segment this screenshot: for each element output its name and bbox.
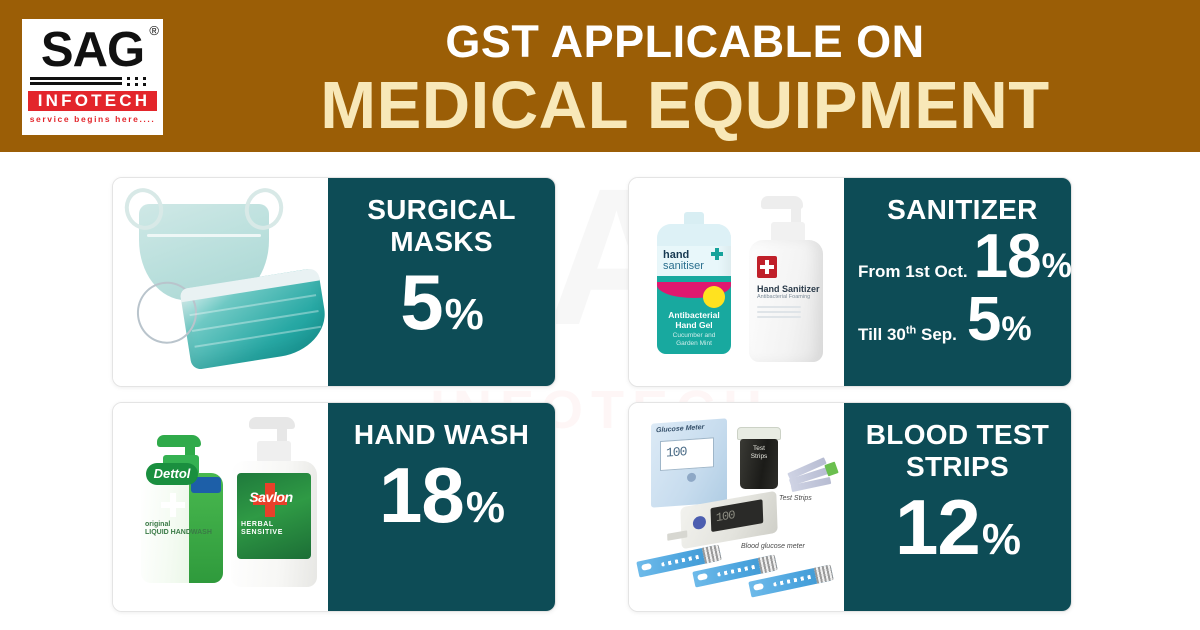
- logo-tagline: service begins here....: [28, 114, 157, 124]
- savlon-description: HERBAL SENSITIVE: [241, 521, 283, 537]
- medical-cross-badge-icon: [757, 256, 777, 278]
- rate-number: 5: [967, 287, 1000, 353]
- sanitizer-rate-from-oct: From 1st Oct. 18 %: [858, 224, 1071, 299]
- percent-symbol: %: [1042, 233, 1071, 299]
- rate-number: 18: [379, 455, 464, 535]
- caption-test-strips: Test Strips: [779, 495, 812, 502]
- percent-symbol: %: [445, 275, 483, 355]
- glucose-meter-box-title: Glucose Meter: [656, 424, 704, 434]
- hand-sanitiser-gel-bottle-icon: hand sanitiser Antibacterial Hand Gel Cu…: [657, 224, 731, 354]
- product-image-hand-wash: Dettol original LIQUID HANDWASH Savlon H…: [113, 403, 328, 611]
- sanitizer-rate-rows: From 1st Oct. 18 % Till 30th Sep. 5 %: [844, 224, 1072, 362]
- card-hand-wash: Dettol original LIQUID HANDWASH Savlon H…: [112, 402, 556, 612]
- product-image-surgical-masks: [113, 178, 328, 386]
- glucose-meter-box-icon: Glucose Meter 100: [651, 418, 727, 507]
- bottle-brand-line2: sanitiser: [663, 261, 704, 272]
- product-image-sanitizer: hand sanitiser Antibacterial Hand Gel Cu…: [629, 178, 844, 386]
- rate-period-label: Till 30th Sep.: [858, 325, 957, 351]
- card-surgical-masks: SURGICAL MASKS 5 %: [112, 177, 556, 387]
- page-title-line2: MEDICAL EQUIPMENT: [180, 68, 1190, 144]
- card-sanitizer: hand sanitiser Antibacterial Hand Gel Cu…: [628, 177, 1072, 387]
- test-strips-jar-icon: Test Strips: [737, 427, 781, 491]
- glucose-box-reading: 100: [666, 444, 686, 460]
- card-title-blood-test-strips: BLOOD TEST STRIPS: [844, 419, 1071, 483]
- card-blood-test-strips: Glucose Meter 100 Test Strips Test Strip…: [628, 402, 1072, 612]
- rate-period-label: From 1st Oct.: [858, 262, 968, 288]
- logo-bar-top: [30, 77, 122, 80]
- glucose-meter-reading: 100: [716, 508, 735, 525]
- rate-number: 18: [974, 224, 1041, 290]
- rate-value-surgical-masks: 5 %: [400, 262, 483, 355]
- card-title-surgical-masks: SURGICAL MASKS: [328, 194, 555, 258]
- jar-label: Test Strips: [737, 445, 781, 461]
- rate-panel-surgical-masks: SURGICAL MASKS 5 %: [328, 178, 555, 386]
- rate-panel-sanitizer: SANITIZER From 1st Oct. 18 % Till 30th S…: [844, 178, 1072, 386]
- gst-rate-card-grid: SURGICAL MASKS 5 % hand sanitiser Antiba: [0, 152, 1200, 630]
- medical-cross-icon: [161, 493, 185, 517]
- rate-panel-hand-wash: HAND WASH 18 %: [328, 403, 555, 611]
- rate-number: 12: [895, 487, 980, 567]
- logo-sag-text: SAG ®: [28, 25, 157, 75]
- savlon-brand-label: Savlon: [243, 489, 299, 505]
- logo-dots-grid: [127, 77, 155, 86]
- pump-bottle-subtitle: Antibacterial Foaming: [757, 294, 810, 301]
- pump-bottle-brand: Hand Sanitizer: [757, 284, 820, 294]
- page-title-line1: GST APPLICABLE ON: [180, 16, 1190, 68]
- page-header: SAG ® INFOTECH service begins here.... G…: [0, 0, 1200, 152]
- percent-symbol: %: [1001, 296, 1030, 362]
- hand-sanitizer-pump-bottle-icon: Hand Sanitizer Antibacterial Foaming: [747, 196, 825, 362]
- card-title-hand-wash: HAND WASH: [328, 419, 555, 451]
- bottle-variant: Cucumber and Garden Mint: [657, 332, 731, 348]
- rate-value-hand-wash: 18 %: [379, 455, 504, 548]
- percent-symbol: %: [982, 500, 1020, 580]
- dettol-brand-label: Dettol: [146, 463, 198, 485]
- dettol-description: original LIQUID HANDWASH: [145, 521, 212, 537]
- logo-bar-bottom: [30, 82, 122, 85]
- header-title-block: GST APPLICABLE ON MEDICAL EQUIPMENT: [180, 10, 1190, 144]
- rate-panel-blood-test-strips: BLOOD TEST STRIPS 12 %: [844, 403, 1071, 611]
- rate-value-5: 5 %: [967, 287, 1031, 362]
- dettol-handwash-bottle-icon: Dettol original LIQUID HANDWASH: [141, 435, 223, 583]
- logo-infotech-text: INFOTECH: [28, 91, 157, 111]
- sag-infotech-logo: SAG ® INFOTECH service begins here....: [22, 19, 163, 135]
- medical-cross-icon: [711, 248, 723, 260]
- logo-divider-bars: [28, 77, 157, 89]
- product-image-blood-test-strips: Glucose Meter 100 Test Strips Test Strip…: [629, 403, 844, 611]
- percent-symbol: %: [466, 468, 504, 548]
- ordinal-suffix: th: [906, 324, 916, 336]
- rate-number: 5: [400, 262, 442, 342]
- loose-test-strips-icon: [787, 465, 835, 493]
- promo-badge: [703, 286, 725, 308]
- logo-sag-label: SAG: [41, 23, 144, 77]
- blue-test-strips-icon: [635, 549, 841, 605]
- registered-trademark-icon: ®: [149, 24, 158, 37]
- bottle-description: Antibacterial Hand Gel: [657, 310, 731, 330]
- savlon-handwash-bottle-icon: Savlon HERBAL SENSITIVE: [231, 417, 317, 587]
- rate-value-blood-test-strips: 12 %: [895, 487, 1020, 580]
